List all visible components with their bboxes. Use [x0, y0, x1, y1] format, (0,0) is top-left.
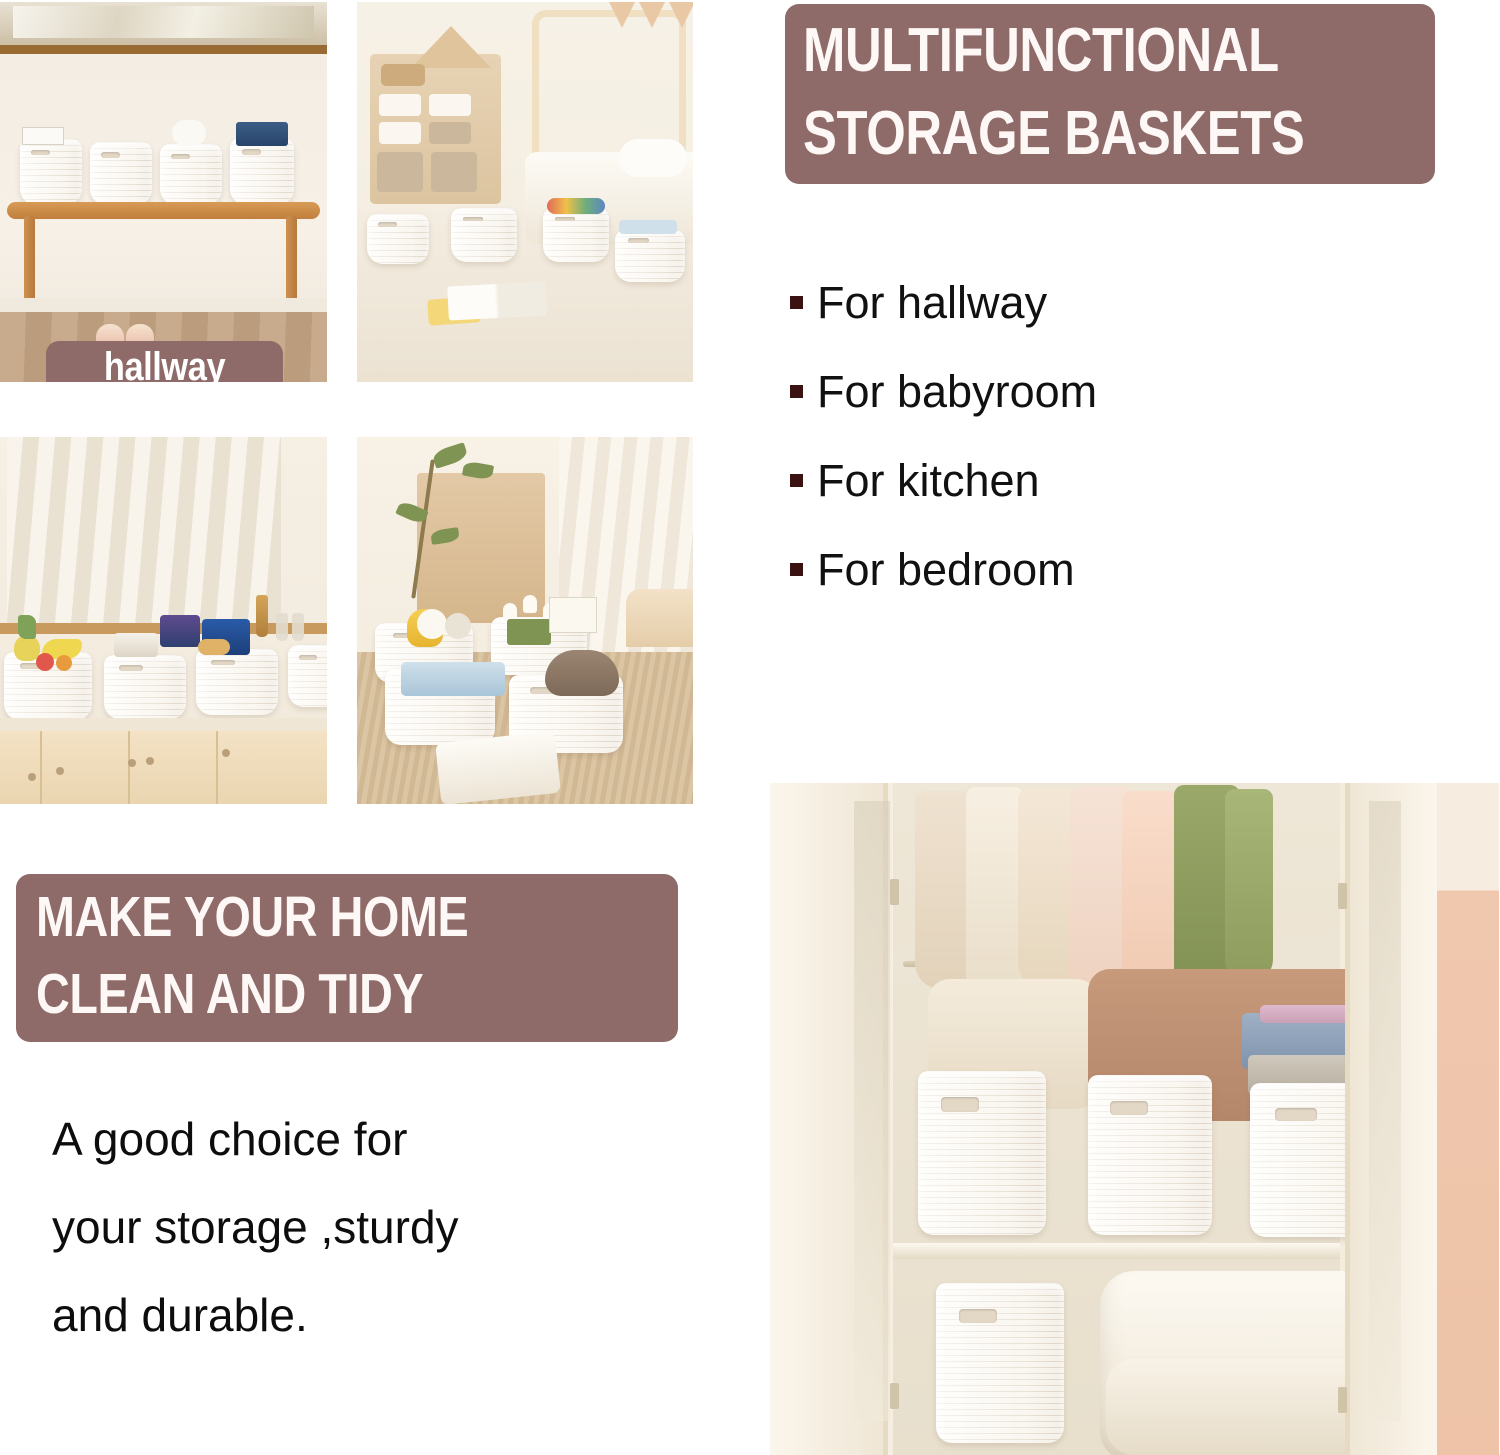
benefit-label: For kitchen: [817, 455, 1040, 507]
bullet-square-icon: [790, 474, 803, 487]
photo-wardrobe-closet: [770, 783, 1499, 1455]
description-block: A good choice for your storage ,sturdy a…: [52, 1095, 692, 1359]
bullet-square-icon: [790, 296, 803, 309]
benefit-label: For bedroom: [817, 544, 1075, 596]
description-line-2: your storage ,sturdy: [52, 1183, 692, 1271]
photo-babyroom: babyroom: [357, 2, 693, 382]
title-banner: MULTIFUNCTIONAL STORAGE BASKETS: [785, 4, 1435, 184]
photo-caption-hallway: hallway: [46, 341, 283, 382]
list-item: For bedroom: [790, 525, 1410, 614]
title-line-2: STORAGE BASKETS: [803, 92, 1306, 175]
description-line-3: and durable.: [52, 1271, 692, 1359]
benefit-label: For babyroom: [817, 366, 1097, 418]
photo-kitchen: kitchen: [0, 437, 327, 804]
headline-line-1: MAKE YOUR HOME: [36, 879, 546, 956]
list-item: For hallway: [790, 258, 1410, 347]
headline-line-2: CLEAN AND TIDY: [36, 956, 546, 1033]
headline-banner: MAKE YOUR HOME CLEAN AND TIDY: [16, 874, 678, 1042]
bullet-square-icon: [790, 563, 803, 576]
photo-hallway: hallway: [0, 2, 327, 382]
photo-bedroom: bedroom: [357, 437, 693, 804]
bullet-square-icon: [790, 385, 803, 398]
benefit-label: For hallway: [817, 277, 1047, 329]
list-item: For babyroom: [790, 347, 1410, 436]
benefits-list: For hallway For babyroom For kitchen For…: [790, 258, 1410, 614]
description-line-1: A good choice for: [52, 1095, 692, 1183]
list-item: For kitchen: [790, 436, 1410, 525]
title-line-1: MULTIFUNCTIONAL: [803, 9, 1306, 92]
